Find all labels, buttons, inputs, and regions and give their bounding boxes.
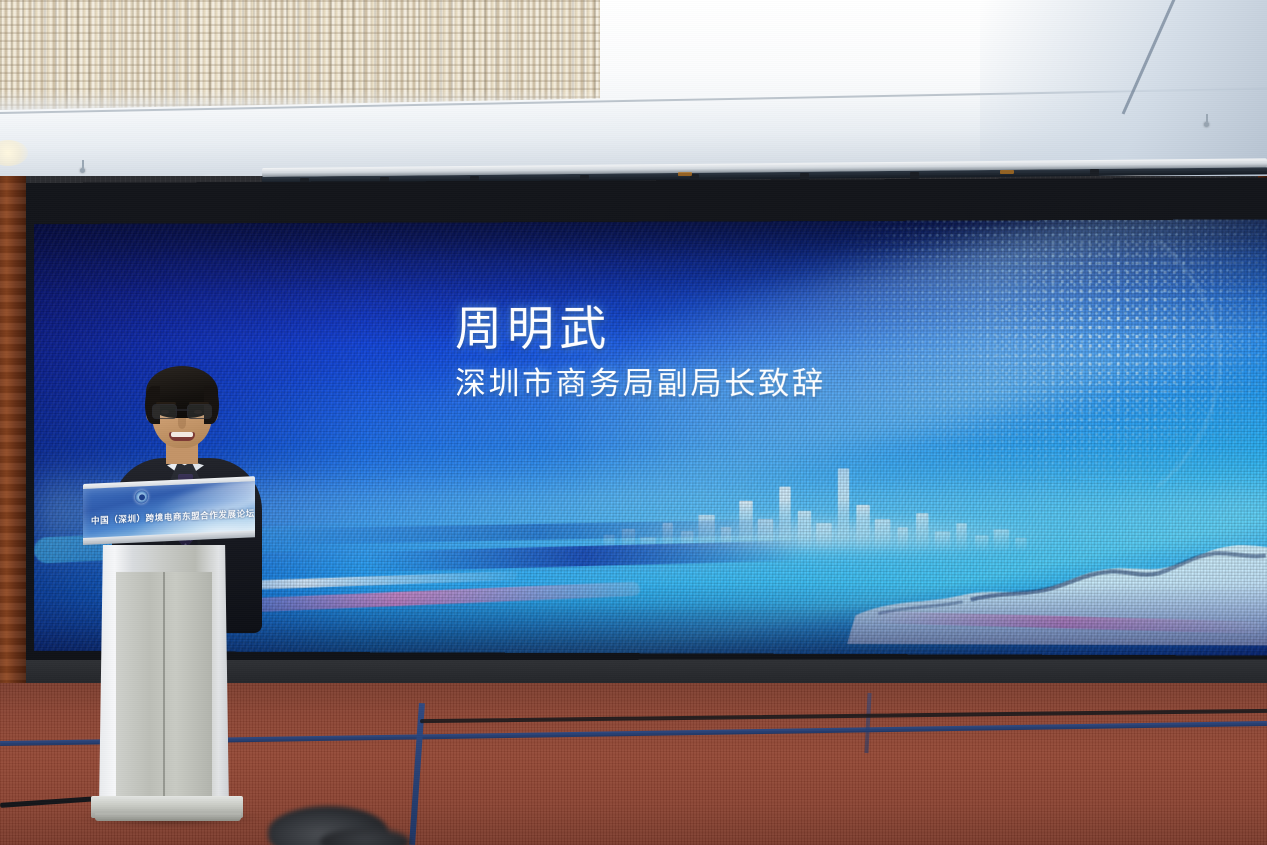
podium-panel-seam	[163, 572, 165, 804]
glasses-lens-left	[152, 404, 177, 419]
track-spotlight-warm	[1000, 170, 1014, 174]
eyeglasses	[152, 404, 212, 418]
nose	[178, 418, 186, 429]
teeth	[171, 432, 193, 437]
skyline-building	[816, 523, 831, 549]
wood-grain	[0, 176, 26, 716]
track-spotlight-warm	[678, 172, 692, 176]
track-spotlight	[1090, 169, 1099, 176]
speaker-name-text: 周明武	[455, 305, 980, 356]
podium: 中国（深圳）跨境电商东盟合作发展论坛	[83, 484, 258, 824]
glasses-bridge	[175, 409, 189, 411]
wood-column-left	[0, 176, 26, 716]
mouth	[169, 432, 195, 441]
glasses-lens-right	[187, 404, 212, 419]
track-spotlight	[910, 172, 919, 179]
screen-text-block: 周明武 深圳市商务局副局长致辞	[455, 305, 980, 403]
podium-banner-text: 中国（深圳）跨境电商东盟合作发展论坛	[91, 507, 249, 526]
speaker-title-text: 深圳市商务局副局长致辞	[455, 365, 980, 403]
podium-foot	[95, 813, 241, 821]
screenshot-root: 周明武 深圳市商务局副局长致辞	[0, 0, 1267, 845]
ceiling-sprinkler	[1204, 122, 1209, 127]
ceiling-sprinkler	[80, 168, 85, 173]
forum-emblem-icon	[135, 490, 148, 504]
